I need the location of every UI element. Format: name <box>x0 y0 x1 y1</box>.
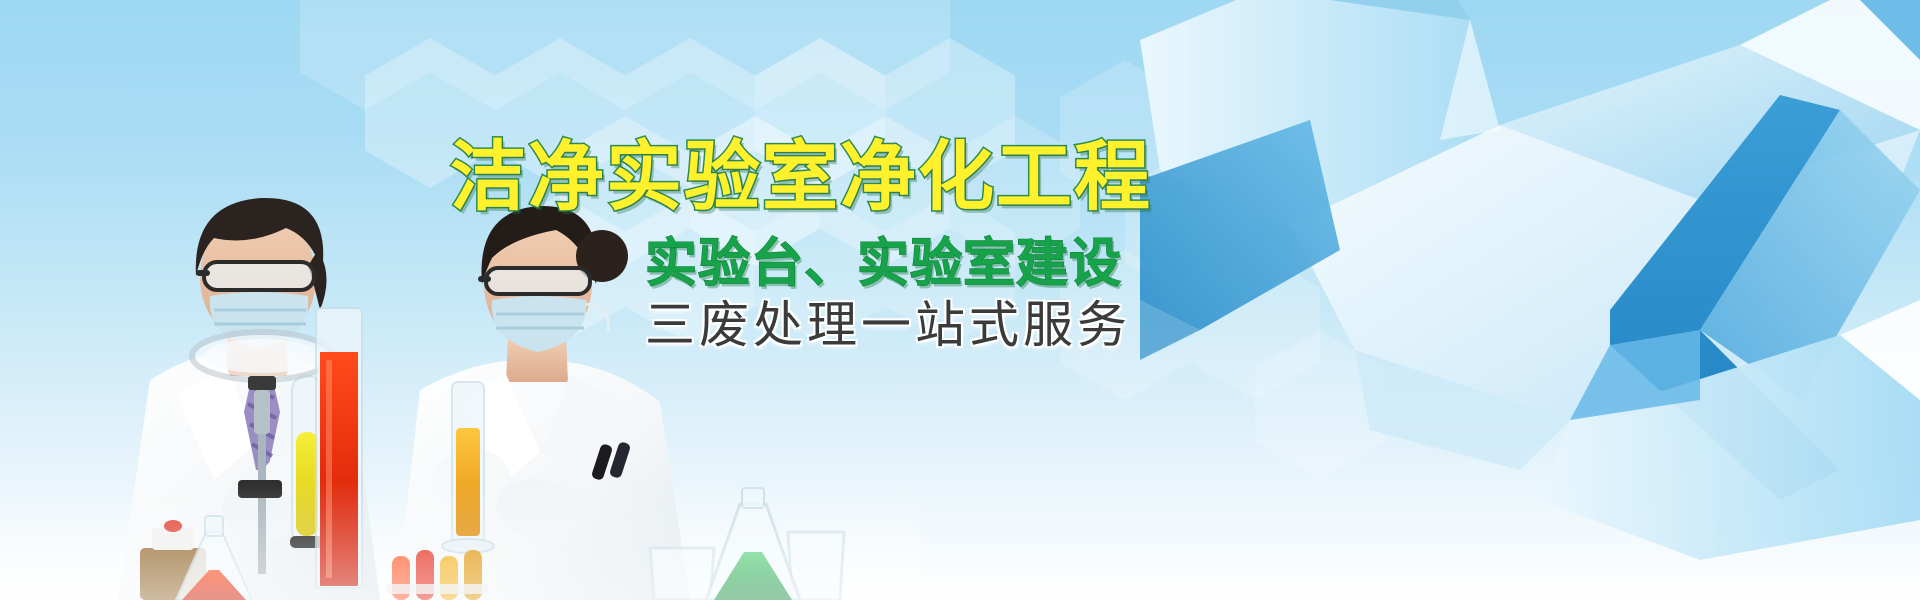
necktie <box>244 376 280 470</box>
hexagon-shape <box>1125 150 1255 300</box>
bottom-fade <box>0 480 920 600</box>
yellow-test-tube <box>290 376 324 548</box>
female-scientist <box>396 206 690 600</box>
coat-lapel <box>262 366 342 480</box>
magnifier-on-stand <box>192 332 332 574</box>
hexagon-shape <box>625 194 755 344</box>
neck <box>226 330 288 376</box>
coat-lapel <box>176 366 258 480</box>
lab-scientists-photo <box>0 180 920 600</box>
lab-coat <box>396 360 690 600</box>
surgical-mask <box>210 292 309 348</box>
crystal-facet <box>1290 45 1920 420</box>
crystal-facet <box>1260 0 1470 20</box>
hexagon-shape <box>1190 250 1320 400</box>
mask-pleat <box>496 314 584 328</box>
crystal-facet <box>1140 0 1500 230</box>
headline-secondary: 实验台、实验室建设 <box>645 238 1122 290</box>
hexagon-shape <box>950 116 1080 266</box>
hair <box>308 250 327 310</box>
hexagon-pattern <box>0 0 1920 600</box>
headline-tertiary: 三废处理一站式服务 <box>645 300 1131 350</box>
lab-purification-banner: 洁净实验室净化工程 实验台、实验室建设 三废处理一站式服务 <box>0 0 1920 600</box>
green-erlenmeyer-flask <box>706 488 800 600</box>
hair <box>196 198 323 276</box>
headline-primary: 洁净实验室净化工程 <box>450 140 1152 216</box>
crystal-facet <box>1540 335 1920 560</box>
hexagon-shape <box>1060 60 1190 210</box>
orange-graduated-cylinder <box>442 382 494 553</box>
gloved-hand <box>490 470 590 550</box>
hexagon-shape <box>625 38 755 188</box>
cylinder-base <box>442 539 494 553</box>
safety-goggles <box>478 268 590 294</box>
crystal-facet <box>1140 300 1200 360</box>
crystal-facet <box>1740 0 1920 130</box>
hexagon-shape <box>690 116 820 266</box>
crystal-facet <box>1700 110 1920 400</box>
hexagon-shape <box>1255 330 1385 480</box>
hexagon-shape <box>560 116 690 266</box>
crystal-facet <box>1570 330 1700 420</box>
crystal-polygons <box>1140 0 1920 560</box>
hexagon-shape <box>885 194 1015 344</box>
male-scientist <box>118 198 380 600</box>
hexagon-shape <box>495 38 625 188</box>
hexagon-shape <box>560 0 690 110</box>
hexagon-shape <box>885 38 1015 188</box>
gloved-hand <box>250 437 350 524</box>
hair <box>481 206 597 284</box>
neck <box>506 336 568 382</box>
red-erlenmeyer-flask <box>176 516 252 600</box>
gloved-hand <box>218 477 307 546</box>
hexagon-shape <box>430 0 560 110</box>
crystal-facet <box>1610 95 1840 500</box>
lab-coat <box>118 350 380 600</box>
crystal-facet <box>1355 350 1570 470</box>
hair-bun <box>576 230 628 282</box>
crystal-facet <box>1840 300 1920 400</box>
test-tube-rack <box>386 550 488 600</box>
safety-goggles <box>196 262 314 290</box>
hexagon-shape <box>365 38 495 188</box>
coat-lapel <box>542 374 626 492</box>
crystal-facet <box>1840 0 1920 60</box>
red-graduated-cylinder <box>316 308 362 588</box>
crystal-facet <box>1140 120 1340 330</box>
hexagon-shape <box>820 116 950 266</box>
hexagon-shape <box>690 0 820 110</box>
hexagon-shape <box>495 194 625 344</box>
necktie-stripe <box>248 386 276 456</box>
hexagon-shape <box>820 0 950 110</box>
hexagon-shape <box>755 38 885 188</box>
head <box>484 220 592 348</box>
pocket-pen <box>591 443 614 481</box>
hexagon-shape <box>300 0 430 110</box>
amber-reagent-bottle <box>140 520 206 600</box>
mask-pleat <box>214 310 306 324</box>
mask-strap <box>586 304 609 332</box>
hexagon-shape <box>755 194 885 344</box>
clear-beakers <box>650 532 844 600</box>
head <box>200 212 316 344</box>
crystal-facet <box>1500 45 1920 200</box>
surgical-mask <box>492 296 587 352</box>
pocket-pen <box>609 441 632 479</box>
hexagon-shape <box>1060 250 1190 400</box>
headline-block: 洁净实验室净化工程 实验台、实验室建设 三废处理一站式服务 <box>0 0 1920 600</box>
crystal-facet <box>1440 20 1500 140</box>
gloved-hand <box>425 442 516 517</box>
coat-lapel <box>456 374 540 490</box>
